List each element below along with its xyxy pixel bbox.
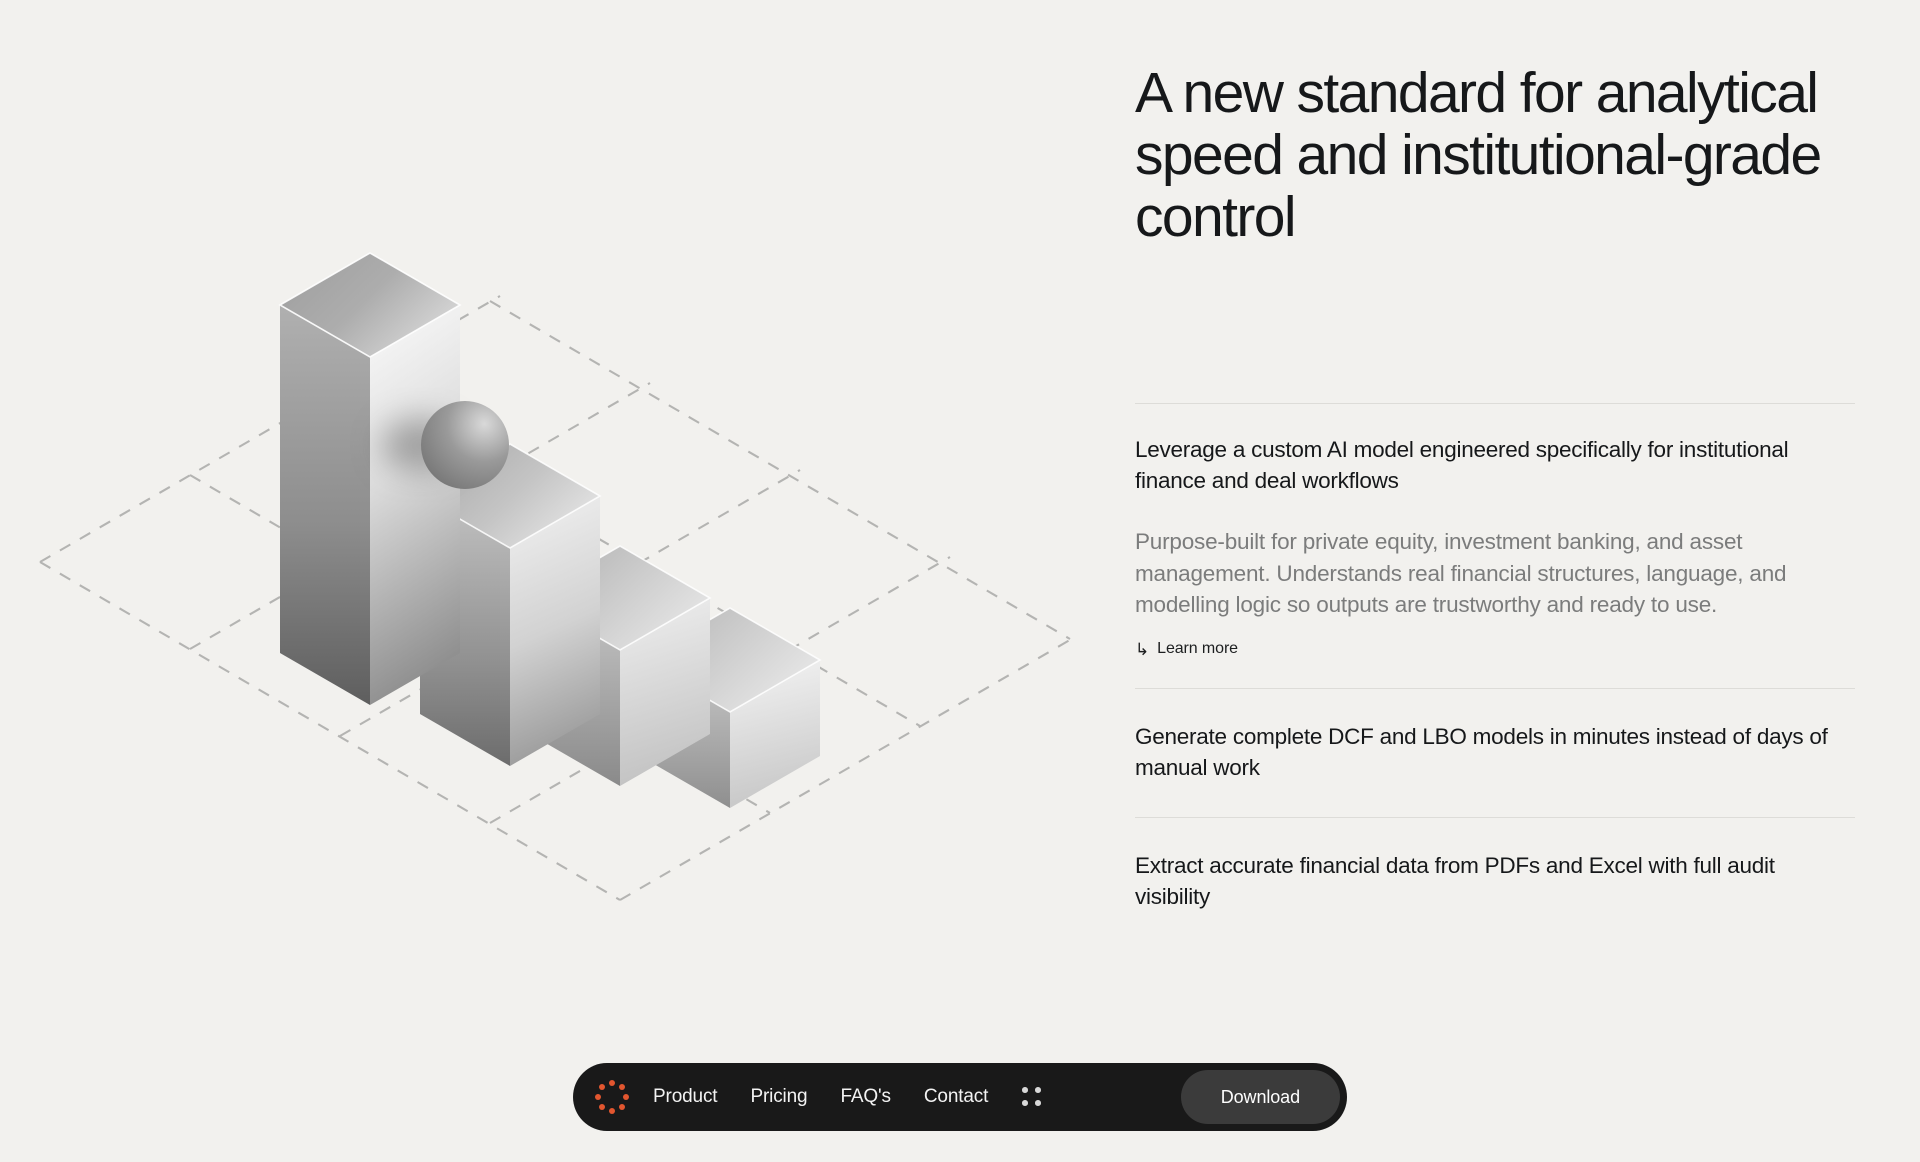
feature-item-2[interactable]: Generate complete DCF and LBO models in …: [1135, 689, 1855, 817]
page-title: A new standard for analytical speed and …: [1135, 62, 1855, 248]
nav-link-product[interactable]: Product: [653, 1086, 717, 1108]
corner-arrow-icon: ↳: [1135, 641, 1149, 658]
nav-link-faqs[interactable]: FAQ's: [840, 1086, 890, 1108]
feature-item-3[interactable]: Extract accurate financial data from PDF…: [1135, 818, 1855, 912]
learn-more-label: Learn more: [1157, 640, 1238, 658]
iso-sphere: [421, 401, 509, 489]
bottom-navbar: Product Pricing FAQ's Contact Download: [573, 1063, 1347, 1131]
feature-heading[interactable]: Generate complete DCF and LBO models in …: [1135, 721, 1855, 783]
isometric-3d-bar-chart-illustration: [0, 0, 1120, 1060]
nav-link-pricing[interactable]: Pricing: [750, 1086, 807, 1108]
spacer: [1135, 496, 1855, 526]
content-column: A new standard for analytical speed and …: [1135, 0, 1855, 1060]
dot-ring-logo-icon[interactable]: [595, 1080, 629, 1114]
feature-heading[interactable]: Leverage a custom AI model engineered sp…: [1135, 434, 1855, 496]
spacer: [1135, 248, 1855, 403]
iso-bar-1: [280, 253, 460, 705]
nav-links: Product Pricing FAQ's Contact: [653, 1086, 988, 1108]
feature-body: Purpose-built for private equity, invest…: [1135, 526, 1855, 620]
feature-heading[interactable]: Extract accurate financial data from PDF…: [1135, 850, 1855, 912]
download-button[interactable]: Download: [1181, 1070, 1340, 1124]
four-dot-grid-icon[interactable]: [1021, 1085, 1045, 1109]
landing-page: A new standard for analytical speed and …: [0, 0, 1920, 1162]
feature-item-1[interactable]: Leverage a custom AI model engineered sp…: [1135, 404, 1855, 687]
learn-more-link[interactable]: ↳ Learn more: [1135, 640, 1238, 658]
nav-link-contact[interactable]: Contact: [924, 1086, 988, 1108]
learn-more-row: ↳ Learn more: [1135, 620, 1855, 688]
